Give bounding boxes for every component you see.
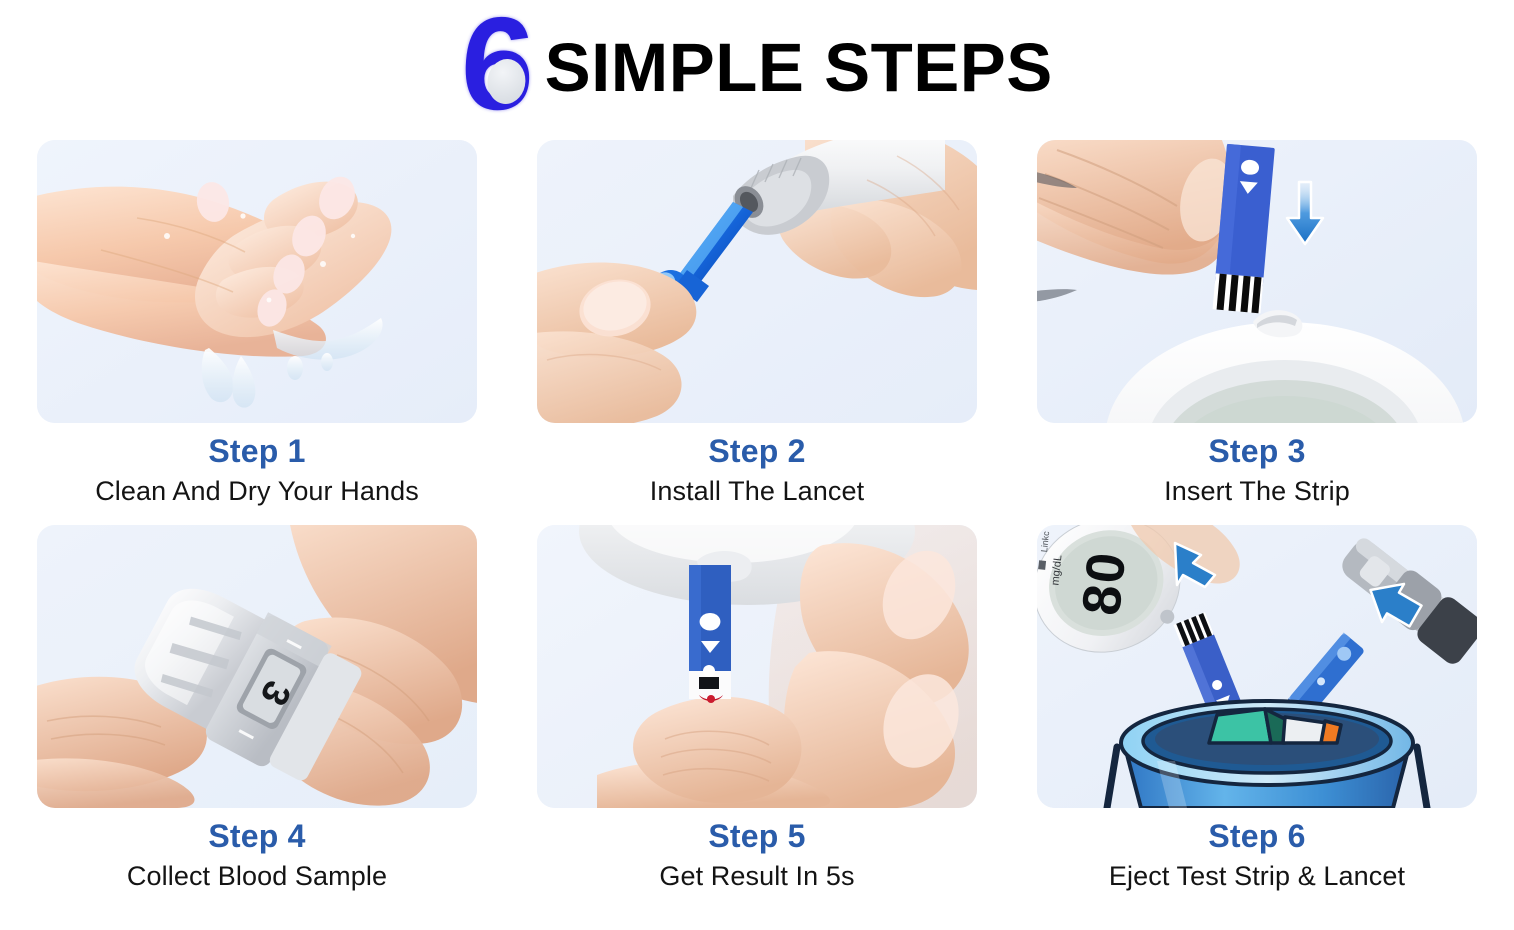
step-card-1: Step 1 Clean And Dry Your Hands: [37, 140, 477, 508]
step-caption-2: Step 2 Install The Lancet: [537, 423, 977, 508]
step-title-3: Step 3: [1037, 432, 1477, 472]
step-caption-3: Step 3 Insert The Strip: [1037, 423, 1477, 508]
step-card-4: 3 Step 4 Collect Blood Sample: [37, 525, 477, 893]
step-title-5: Step 5: [537, 817, 977, 857]
step-image-panel-5: [537, 525, 977, 808]
step-desc-2: Install The Lancet: [537, 472, 977, 509]
step-title-4: Step 4: [37, 817, 477, 857]
step-caption-1: Step 1 Clean And Dry Your Hands: [37, 423, 477, 508]
headline-number: 6: [459, 10, 532, 118]
step-caption-5: Step 5 Get Result In 5s: [537, 808, 977, 893]
step-title-6: Step 6: [1037, 817, 1477, 857]
steps-grid: Step 1 Clean And Dry Your Hands: [0, 140, 1514, 893]
step-card-2: Step 2 Install The Lancet: [537, 140, 977, 508]
applying-blood-drop-to-test-strip-photo: [537, 525, 977, 808]
page-title: SIMPLE STEPS: [545, 28, 1053, 107]
lancing-device-on-fingertip-photo: 3: [37, 525, 477, 808]
washing-hands-with-water-photo: [37, 140, 477, 423]
step-image-panel-4: 3: [37, 525, 477, 808]
step-desc-6: Eject Test Strip & Lancet: [1037, 857, 1477, 894]
step-desc-4: Collect Blood Sample: [37, 857, 477, 894]
step-caption-4: Step 4 Collect Blood Sample: [37, 808, 477, 893]
meter-reading: 80: [1071, 548, 1137, 618]
step-image-panel-3: [1037, 140, 1477, 423]
step-desc-3: Insert The Strip: [1037, 472, 1477, 509]
inserting-test-strip-into-meter-photo: [1037, 140, 1477, 423]
step-card-3: Step 3 Insert The Strip: [1037, 140, 1477, 508]
trash-bin-illustration: [1107, 701, 1427, 808]
step-image-panel-1: [37, 140, 477, 423]
svg-text:80: 80: [1071, 548, 1137, 618]
step-title-1: Step 1: [37, 432, 477, 472]
step-card-5: Step 5 Get Result In 5s: [537, 525, 977, 893]
page-header: 6 SIMPLE STEPS: [0, 0, 1514, 140]
step-card-6: 80 mg/dL Linkc: [1037, 525, 1477, 893]
installing-blue-lancet-into-lancing-device-photo: [537, 140, 977, 423]
step-caption-6: Step 6 Eject Test Strip & Lancet: [1037, 808, 1477, 893]
step-title-2: Step 2: [537, 432, 977, 472]
step-desc-1: Clean And Dry Your Hands: [37, 472, 477, 509]
ejecting-strip-and-lancet-into-bin-illustration: 80 mg/dL Linkc: [1037, 525, 1477, 808]
step-desc-5: Get Result In 5s: [537, 857, 977, 894]
step-image-panel-2: [537, 140, 977, 423]
step-image-panel-6: 80 mg/dL Linkc: [1037, 525, 1477, 808]
headline-number-glyph: 6: [459, 0, 534, 137]
